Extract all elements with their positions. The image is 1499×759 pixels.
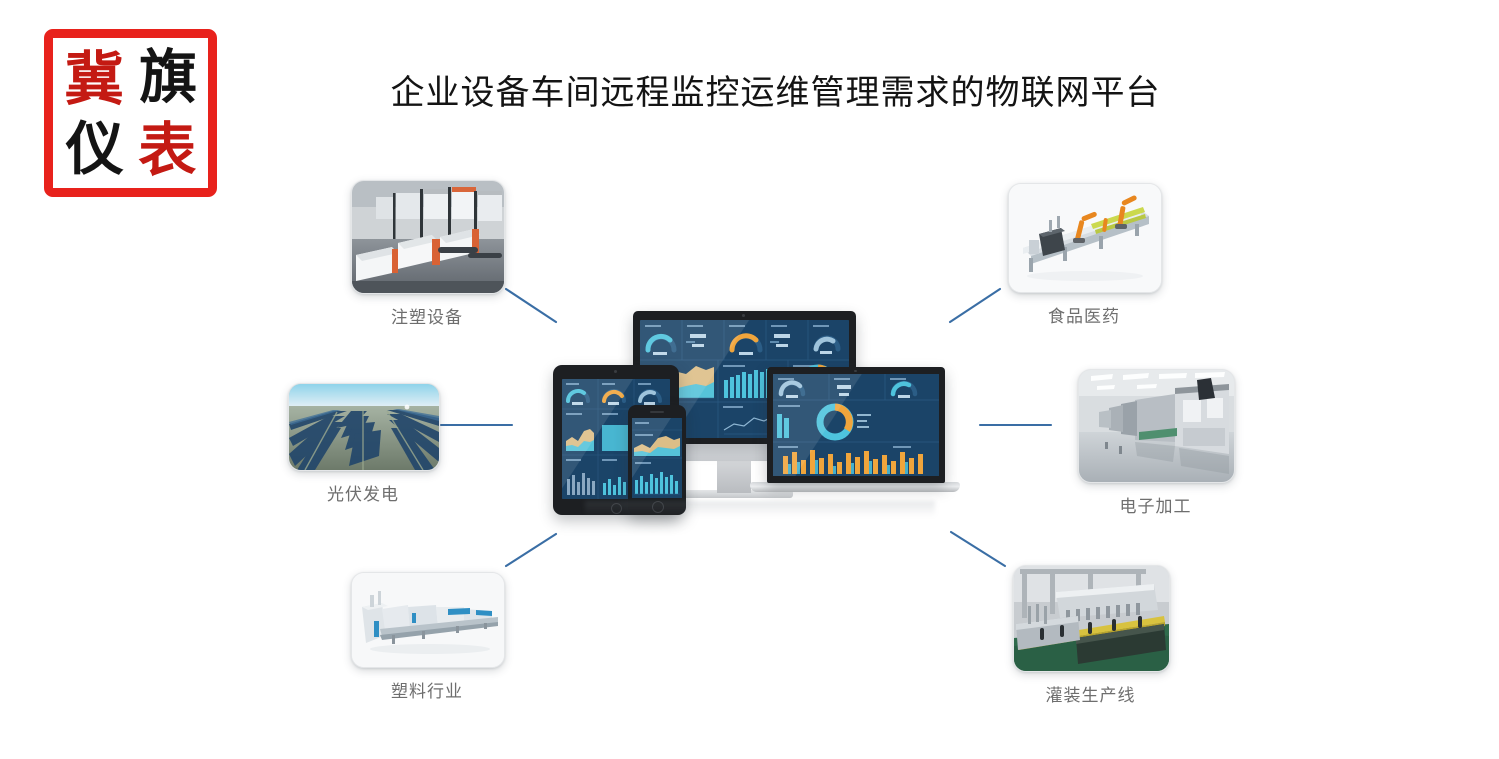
node-filling-line[interactable]: 灌装生产线 bbox=[1013, 565, 1168, 706]
connector-filling-line bbox=[951, 532, 1005, 566]
injection-molding-photo bbox=[352, 181, 504, 293]
node-image-plastics bbox=[351, 572, 505, 668]
node-injection-molding[interactable]: 注塑设备 bbox=[351, 180, 503, 328]
node-image-filling-line bbox=[1013, 565, 1170, 672]
device-reflection bbox=[585, 501, 935, 517]
node-electronics[interactable]: 电子加工 bbox=[1078, 369, 1233, 517]
node-food-pharma[interactable]: 食品医药 bbox=[1008, 183, 1160, 327]
node-image-electronics bbox=[1078, 369, 1235, 483]
node-label-plastics: 塑料行业 bbox=[351, 677, 503, 702]
page-title: 企业设备车间远程监控运维管理需求的物联网平台 bbox=[0, 65, 1499, 114]
slide-canvas: 冀 旗 仪 表 企业设备车间远程监控运维管理需求的物联网平台 bbox=[0, 0, 1499, 759]
node-label-electronics: 电子加工 bbox=[1078, 492, 1233, 517]
multi-device-dashboard[interactable] bbox=[545, 305, 975, 520]
node-image-injection-molding bbox=[351, 180, 505, 294]
laptop-dashboard-charts bbox=[773, 374, 939, 476]
plastics-photo bbox=[352, 573, 504, 667]
electronics-photo bbox=[1079, 370, 1234, 482]
node-label-filling-line: 灌装生产线 bbox=[1013, 681, 1168, 706]
node-label-photovoltaic: 光伏发电 bbox=[288, 480, 438, 505]
node-label-food-pharma: 食品医药 bbox=[1008, 302, 1160, 327]
node-image-photovoltaic bbox=[288, 383, 440, 471]
page-title-text: 企业设备车间远程监控运维管理需求的物联网平台 bbox=[339, 65, 1161, 114]
node-label-injection-molding: 注塑设备 bbox=[351, 303, 503, 328]
node-image-food-pharma bbox=[1008, 183, 1162, 293]
phone-dashboard-charts bbox=[632, 418, 682, 498]
logo-char-4: 表 bbox=[138, 121, 196, 179]
node-plastics[interactable]: 塑料行业 bbox=[351, 572, 503, 702]
food-pharma-photo bbox=[1009, 184, 1161, 292]
connector-plastics bbox=[506, 534, 556, 566]
node-photovoltaic[interactable]: 光伏发电 bbox=[288, 383, 438, 505]
filling-line-photo bbox=[1014, 566, 1169, 671]
photovoltaic-photo bbox=[289, 384, 439, 470]
logo-char-3: 仪 bbox=[66, 120, 124, 178]
